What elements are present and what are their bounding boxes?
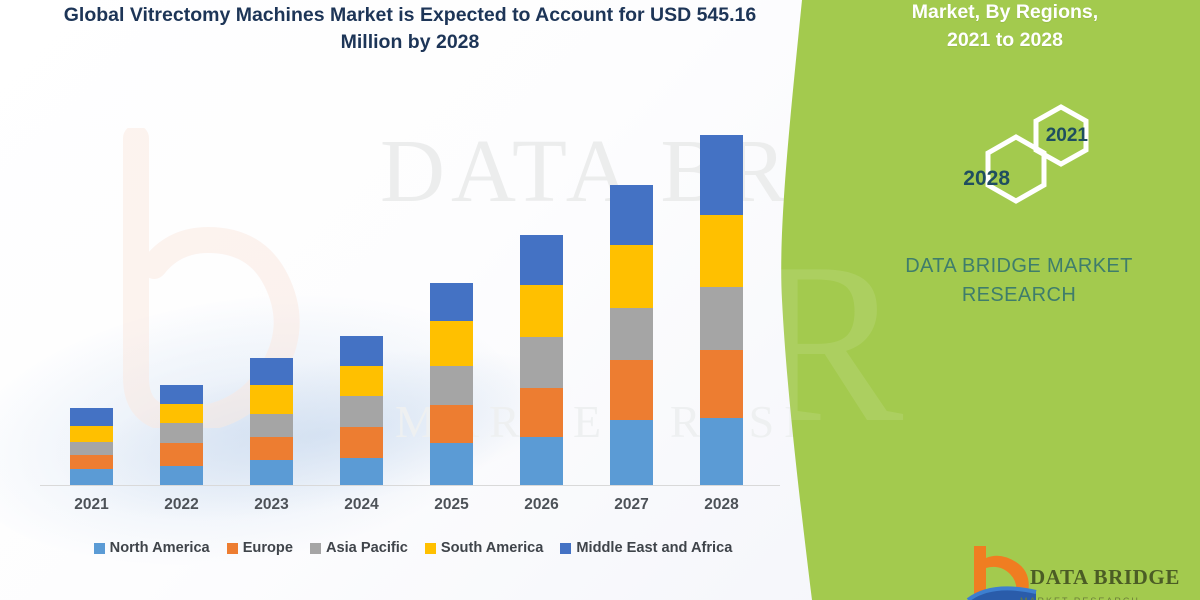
bar-segment <box>160 404 203 423</box>
bar-segment <box>70 408 113 426</box>
x-axis-label-2025: 2025 <box>422 496 482 514</box>
bar-segment <box>250 358 293 385</box>
legend-swatch-icon <box>425 543 436 554</box>
x-axis-label-2026: 2026 <box>512 496 572 514</box>
bar-segment <box>160 466 203 485</box>
legend-label: North America <box>110 540 210 556</box>
legend-label: South America <box>441 540 543 556</box>
brand-name: DATA BRIDGE MARKET RESEARCH <box>854 252 1184 310</box>
bar-segment <box>700 418 743 485</box>
chart-container: 20212022202320242025202620272028 North A… <box>0 0 812 600</box>
bar-segment <box>700 215 743 287</box>
x-axis-label-2021: 2021 <box>62 496 122 514</box>
bar-segment <box>250 460 293 485</box>
chart-legend: North AmericaEuropeAsia PacificSouth Ame… <box>48 540 778 556</box>
x-axis-label-2028: 2028 <box>692 496 752 514</box>
hexagon-label-start: 2021 <box>1046 125 1088 147</box>
legend-label: Asia Pacific <box>326 540 408 556</box>
bar-2026 <box>520 235 563 485</box>
logo-subtitle: MARKET RESEARCH <box>1020 596 1190 600</box>
bar-segment <box>160 443 203 466</box>
bar-segment <box>520 285 563 338</box>
legend-swatch-icon <box>227 543 238 554</box>
logo-wordmark: DATA BRIDGE <box>1030 565 1190 590</box>
bar-2021 <box>70 408 113 485</box>
bar-segment <box>610 308 653 360</box>
bar-segment <box>520 235 563 284</box>
bar-segment <box>340 366 383 396</box>
legend-swatch-icon <box>94 543 105 554</box>
bar-segment <box>70 426 113 442</box>
panel-title: Market, By Regions, 2021 to 2028 <box>810 0 1200 54</box>
bar-segment <box>70 469 113 485</box>
bar-segment <box>700 135 743 215</box>
brand-line1: DATA BRIDGE MARKET <box>854 252 1184 281</box>
bar-segment <box>610 185 653 245</box>
x-axis-label-2022: 2022 <box>152 496 212 514</box>
bar-segment <box>250 385 293 414</box>
x-axis-labels: 20212022202320242025202620272028 <box>0 496 812 522</box>
bar-2028 <box>700 135 743 485</box>
x-axis-line <box>40 485 780 486</box>
x-axis-label-2023: 2023 <box>242 496 302 514</box>
infographic-canvas: DATA BRIDGE MARKET RESEARCH Global Vitre… <box>0 0 1200 600</box>
panel-title-line2: 2021 to 2028 <box>810 26 1200 54</box>
bar-2022 <box>160 385 203 485</box>
bar-segment <box>520 388 563 437</box>
legend-item-europe[interactable]: Europe <box>227 540 293 556</box>
bar-segment <box>700 350 743 418</box>
bar-segment <box>430 443 473 485</box>
bar-segment <box>430 405 473 443</box>
bar-2027 <box>610 185 653 485</box>
bar-segment <box>430 366 473 406</box>
bar-2025 <box>430 283 473 485</box>
bar-segment <box>700 287 743 350</box>
legend-item-north-america[interactable]: North America <box>94 540 210 556</box>
bar-segment <box>340 336 383 366</box>
bar-segment <box>70 455 113 469</box>
bar-segment <box>70 442 113 455</box>
bar-segment <box>610 360 653 420</box>
legend-item-middle-east-and-africa[interactable]: Middle East and Africa <box>560 540 732 556</box>
bar-segment <box>430 283 473 322</box>
bar-segment <box>610 420 653 485</box>
bar-segment <box>430 321 473 365</box>
legend-label: Europe <box>243 540 293 556</box>
bar-segment <box>160 385 203 404</box>
legend-item-south-america[interactable]: South America <box>425 540 543 556</box>
legend-label: Middle East and Africa <box>576 540 732 556</box>
bar-segment <box>340 427 383 458</box>
bar-segment <box>340 458 383 485</box>
hexagon-label-end: 2028 <box>963 167 1010 191</box>
bar-2024 <box>340 336 383 485</box>
bar-segment <box>520 337 563 388</box>
legend-item-asia-pacific[interactable]: Asia Pacific <box>310 540 408 556</box>
x-axis-label-2027: 2027 <box>602 496 662 514</box>
bar-group <box>0 0 812 485</box>
bar-segment <box>610 245 653 308</box>
green-side-panel: R Market, By Regions, 2021 to 2028 2021 … <box>780 0 1200 600</box>
bar-segment <box>160 423 203 442</box>
panel-title-line1: Market, By Regions, <box>810 0 1200 26</box>
x-axis-label-2024: 2024 <box>332 496 392 514</box>
bar-segment <box>250 437 293 460</box>
hexagon-group: 2021 2028 <box>928 95 1118 220</box>
bar-2023 <box>250 358 293 485</box>
bar-segment <box>520 437 563 485</box>
bar-segment <box>250 414 293 437</box>
legend-swatch-icon <box>310 543 321 554</box>
legend-swatch-icon <box>560 543 571 554</box>
bar-segment <box>340 396 383 427</box>
brand-line2: RESEARCH <box>854 281 1184 310</box>
data-bridge-logo-icon <box>966 542 1038 600</box>
